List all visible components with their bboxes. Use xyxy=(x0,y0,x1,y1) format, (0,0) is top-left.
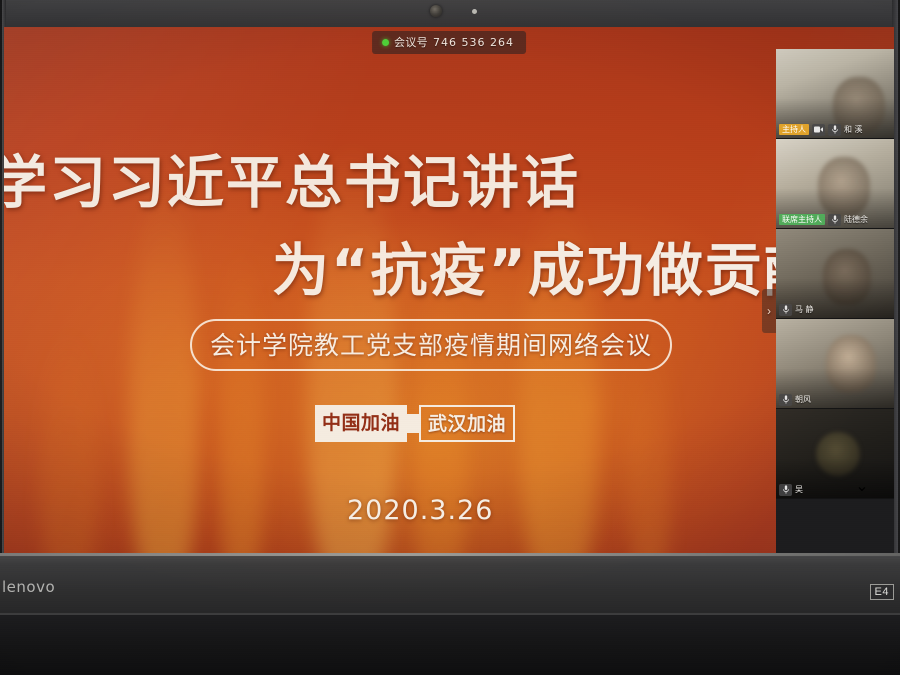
microphone-icon[interactable] xyxy=(779,304,792,316)
slogan-china: 中国加油 xyxy=(315,405,407,442)
participant-name: 陆德余 xyxy=(844,214,868,225)
video-camera-icon[interactable] xyxy=(812,124,825,136)
slide-title-line-2: 为“抗疫”成功做贡献 xyxy=(272,225,823,307)
slide-title-line-1: 学习习近平总书记讲话 xyxy=(4,137,580,219)
participant-label: 联席主持人 陆德余 xyxy=(776,211,894,228)
chevron-right-icon: › xyxy=(767,305,771,317)
participant-label: 吴 ⌄ xyxy=(776,481,894,498)
microphone-icon[interactable] xyxy=(828,124,841,136)
participant-tile[interactable]: 马 静 xyxy=(776,229,894,319)
participant-label: 朝风 xyxy=(776,391,894,408)
participant-name: 朝风 xyxy=(795,394,811,405)
laptop-photo: 会议号 746 536 264 学习习近平总书记讲话 为“抗疫”成功做贡献 会计… xyxy=(0,0,900,675)
participant-name: 吴 xyxy=(795,484,803,495)
meeting-id-bar[interactable]: 会议号 746 536 264 xyxy=(372,31,526,54)
model-sticker: E4 xyxy=(870,584,894,600)
microphone-icon[interactable] xyxy=(779,484,792,496)
microphone-icon[interactable] xyxy=(828,214,841,226)
participant-tile[interactable]: 吴 ⌄ xyxy=(776,409,894,499)
meeting-id-label: 会议号 xyxy=(394,34,428,50)
participant-tile[interactable]: 联席主持人 陆德余 xyxy=(776,139,894,229)
participant-name: 和 溪 xyxy=(844,124,863,135)
participant-label: 马 静 xyxy=(776,301,894,318)
lenovo-logo: lenovo xyxy=(2,578,55,596)
slide-subtitle: 会计学院教工党支部疫情期间网络会议 xyxy=(190,319,672,371)
filmstrip-collapse-button[interactable]: › xyxy=(762,289,776,333)
participant-name: 马 静 xyxy=(795,304,814,315)
slogan-group: 中国加油 武汉加油 xyxy=(315,405,515,442)
participant-tile[interactable]: 朝风 xyxy=(776,319,894,409)
participant-label: 主持人 和 溪 xyxy=(776,121,894,138)
host-badge: 主持人 xyxy=(779,124,809,136)
slide-date: 2020.3.26 xyxy=(347,495,493,526)
bezel-bottom xyxy=(0,553,900,615)
cohost-badge: 联席主持人 xyxy=(779,214,825,226)
meeting-id-number: 746 536 264 xyxy=(433,36,514,49)
microphone-icon[interactable] xyxy=(779,394,792,406)
participant-filmstrip[interactable]: 主持人 和 溪 联席主持人 xyxy=(776,49,894,553)
bezel-top xyxy=(2,0,898,27)
camera-indicator-icon xyxy=(472,9,477,14)
laptop-screen: 会议号 746 536 264 学习习近平总书记讲话 为“抗疫”成功做贡献 会计… xyxy=(4,27,894,553)
chevron-down-icon[interactable]: ⌄ xyxy=(854,479,870,493)
slogan-wuhan: 武汉加油 xyxy=(419,405,515,442)
presentation-slide: 学习习近平总书记讲话 为“抗疫”成功做贡献 会计学院教工党支部疫情期间网络会议 … xyxy=(4,27,894,553)
keyboard-deck xyxy=(0,613,900,675)
connection-status-icon xyxy=(382,39,389,46)
participant-tile[interactable]: 主持人 和 溪 xyxy=(776,49,894,139)
webcam-icon xyxy=(430,5,442,17)
slogan-separator xyxy=(407,414,419,433)
